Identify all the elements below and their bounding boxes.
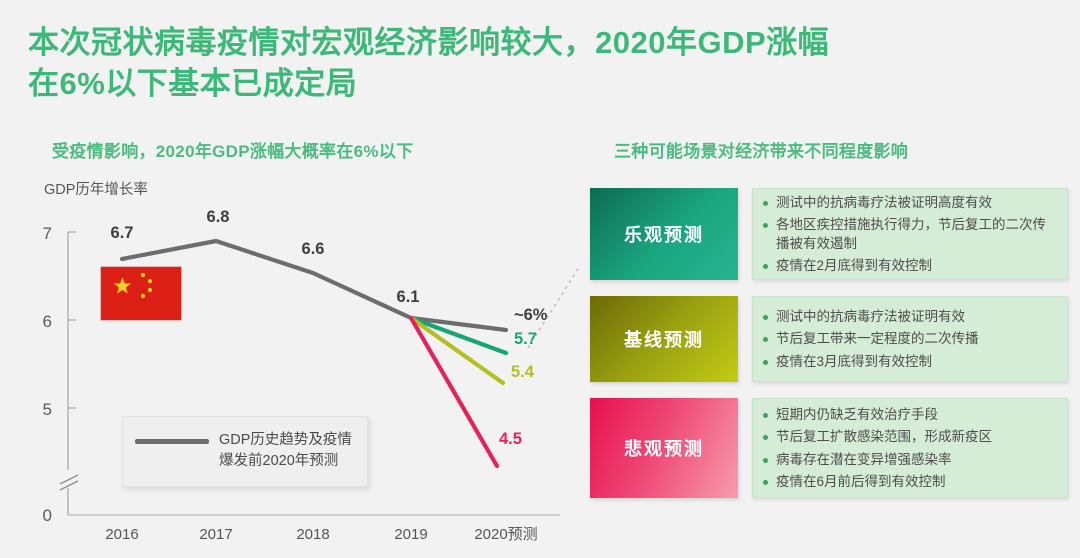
bullet-dot-icon bbox=[763, 413, 768, 418]
china-flag-icon bbox=[100, 266, 182, 321]
series-line-pessimistic bbox=[411, 318, 497, 466]
x-label-2018: 2018 bbox=[296, 526, 329, 543]
bullet-text: 疫情在6月前后得到有效控制 bbox=[776, 472, 946, 491]
bullet-text: 短期内仍缺乏有效治疗手段 bbox=[776, 405, 938, 424]
bullet-text: 疫情在2月底得到有效控制 bbox=[776, 256, 932, 275]
scenario-body-optimistic: 测试中的抗病毒疗法被证明高度有效 各地区疾控措施执行得力，节后复工的二次传播被有… bbox=[752, 188, 1068, 280]
x-label-2020: 2020预测 bbox=[474, 526, 537, 543]
bullet-dot-icon bbox=[763, 223, 768, 228]
scenario-body-baseline: 测试中的抗病毒疗法被证明有效 节后复工带来一定程度的二次传播 疫情在3月底得到有… bbox=[752, 296, 1068, 382]
chart-legend: GDP历史趋势及疫情爆发前2020年预测 bbox=[122, 416, 368, 487]
list-item: 疫情在3月底得到有效控制 bbox=[763, 352, 1055, 371]
subtitle-right: 三种可能场景对经济带来不同程度影响 bbox=[614, 137, 908, 162]
bullet-text: 测试中的抗病毒疗法被证明有效 bbox=[776, 307, 965, 326]
scenario-tag-pessimistic: 悲观预测 bbox=[590, 398, 738, 498]
list-item: 节后复工带来一定程度的二次传播 bbox=[763, 329, 1055, 348]
scenario-body-pessimistic: 短期内仍缺乏有效治疗手段 节后复工扩散感染范围，形成新疫区 病毒存在潜在变异增强… bbox=[752, 398, 1068, 498]
gdp-growth-chart: GDP历年增长率 7 6 5 0 2016 2017 2018 2019 bbox=[0, 178, 580, 558]
annotation-optimistic: 5.7 bbox=[514, 330, 537, 348]
annotation-pessimistic: 4.5 bbox=[499, 430, 522, 448]
chart-svg: 7 6 5 0 2016 2017 2018 2019 2020预测 bbox=[0, 178, 580, 558]
list-item: 病毒存在潜在变异增强感染率 bbox=[763, 450, 1055, 469]
page-title-line-1: 本次冠状病毒疫情对宏观经济影响较大，2020年GDP涨幅 bbox=[28, 22, 1058, 63]
y-label-6: 6 bbox=[43, 312, 52, 331]
list-item: 疫情在2月底得到有效控制 bbox=[763, 256, 1055, 275]
x-label-2016: 2016 bbox=[105, 526, 138, 543]
bullet-text: 病毒存在潜在变异增强感染率 bbox=[776, 450, 952, 469]
bullet-text: 测试中的抗病毒疗法被证明高度有效 bbox=[776, 193, 992, 212]
y-label-5: 5 bbox=[43, 400, 52, 419]
point-label-2019: 6.1 bbox=[397, 288, 420, 306]
bullet-dot-icon bbox=[763, 337, 768, 342]
bullet-dot-icon bbox=[763, 360, 768, 365]
bullet-dot-icon bbox=[763, 458, 768, 463]
scenario-card-baseline[interactable]: 基线预测 测试中的抗病毒疗法被证明有效 节后复工带来一定程度的二次传播 疫情在3… bbox=[590, 296, 1068, 382]
y-label-0: 0 bbox=[43, 506, 52, 525]
bullet-dot-icon bbox=[763, 315, 768, 320]
bullet-text: 各地区疾控措施执行得力，节后复工的二次传播被有效遏制 bbox=[776, 215, 1055, 253]
list-item: 疫情在6月前后得到有效控制 bbox=[763, 472, 1055, 491]
bullet-dot-icon bbox=[763, 435, 768, 440]
list-item: 测试中的抗病毒疗法被证明高度有效 bbox=[763, 193, 1055, 212]
list-item: 节后复工扩散感染范围，形成新疫区 bbox=[763, 427, 1055, 446]
y-label-7: 7 bbox=[43, 224, 52, 243]
bullet-text: 节后复工带来一定程度的二次传播 bbox=[776, 329, 979, 348]
list-item: 各地区疾控措施执行得力，节后复工的二次传播被有效遏制 bbox=[763, 215, 1055, 253]
list-item: 短期内仍缺乏有效治疗手段 bbox=[763, 405, 1055, 424]
point-label-2018: 6.6 bbox=[302, 240, 325, 258]
list-item: 测试中的抗病毒疗法被证明有效 bbox=[763, 307, 1055, 326]
annotation-historical: ~6% bbox=[514, 306, 548, 324]
x-label-2017: 2017 bbox=[199, 526, 232, 543]
legend-label-historical: GDP历史趋势及疫情爆发前2020年预测 bbox=[219, 430, 353, 472]
page-title-line-2: 在6%以下基本已成定局 bbox=[28, 63, 1058, 104]
scenario-tag-optimistic: 乐观预测 bbox=[590, 188, 738, 280]
legend-swatch-historical bbox=[135, 439, 209, 444]
scenario-cards: 乐观预测 测试中的抗病毒疗法被证明高度有效 各地区疾控措施执行得力，节后复工的二… bbox=[590, 188, 1068, 498]
scenario-card-pessimistic[interactable]: 悲观预测 短期内仍缺乏有效治疗手段 节后复工扩散感染范围，形成新疫区 病毒存在潜… bbox=[590, 398, 1068, 498]
slide-root: 本次冠状病毒疫情对宏观经济影响较大，2020年GDP涨幅 在6%以下基本已成定局… bbox=[0, 0, 1080, 558]
point-label-2017: 6.8 bbox=[207, 208, 230, 226]
bullet-dot-icon bbox=[763, 201, 768, 206]
scenario-tag-baseline: 基线预测 bbox=[590, 296, 738, 382]
scenario-card-optimistic[interactable]: 乐观预测 测试中的抗病毒疗法被证明高度有效 各地区疾控措施执行得力，节后复工的二… bbox=[590, 188, 1068, 280]
bullet-text: 疫情在3月底得到有效控制 bbox=[776, 352, 932, 371]
bullet-dot-icon bbox=[763, 480, 768, 485]
subtitle-left: 受疫情影响，2020年GDP涨幅大概率在6%以下 bbox=[52, 137, 413, 162]
page-title: 本次冠状病毒疫情对宏观经济影响较大，2020年GDP涨幅 在6%以下基本已成定局 bbox=[28, 22, 1058, 104]
bullet-dot-icon bbox=[763, 264, 768, 269]
bullet-text: 节后复工扩散感染范围，形成新疫区 bbox=[776, 427, 992, 446]
annotation-baseline: 5.4 bbox=[511, 363, 535, 381]
x-label-2019: 2019 bbox=[394, 526, 427, 543]
point-label-2016: 6.7 bbox=[111, 224, 134, 242]
